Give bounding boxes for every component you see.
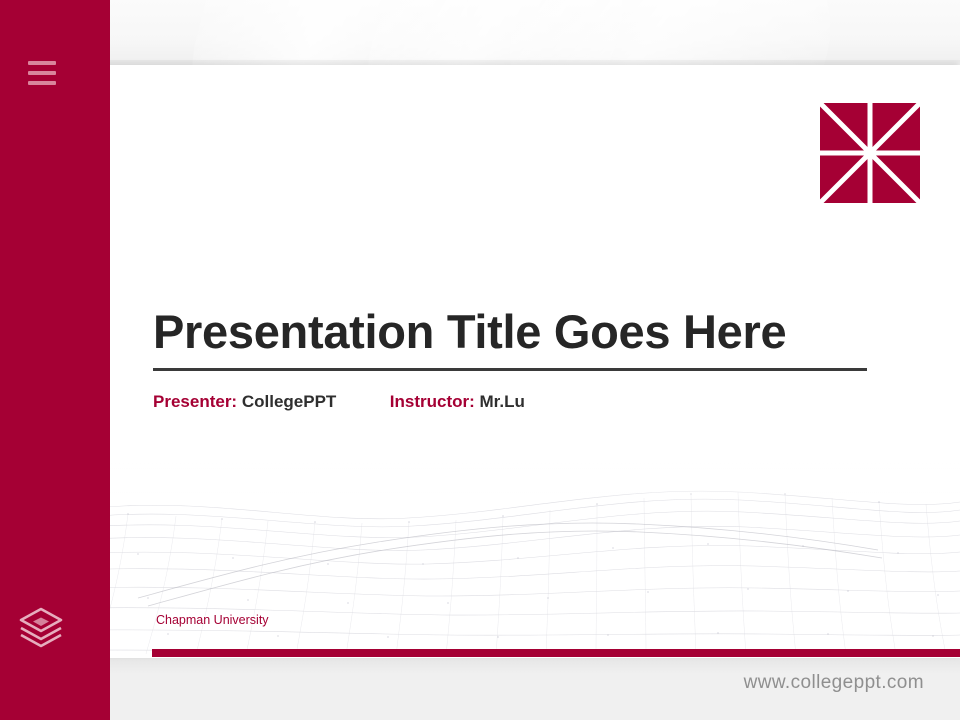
hamburger-bar-2 xyxy=(28,71,56,75)
top-decorative-band xyxy=(0,0,960,66)
presenter-label: Presenter: xyxy=(153,392,237,411)
presentation-slide: Presentation Title Goes Here Presenter: … xyxy=(78,65,960,658)
byline: Presenter: CollegePPT Instructor: Mr.Lu xyxy=(153,392,867,412)
hamburger-bar-3 xyxy=(28,81,56,85)
wireframe-mesh-graphic xyxy=(78,458,960,658)
hamburger-icon[interactable] xyxy=(28,61,56,85)
instructor-label: Instructor: xyxy=(390,392,475,411)
pinwheel-square-logo-icon xyxy=(818,101,922,205)
instructor-value: Mr.Lu xyxy=(480,392,525,411)
left-rail xyxy=(0,0,110,720)
title-block: Presentation Title Goes Here Presenter: … xyxy=(153,307,867,412)
organization-label: Chapman University xyxy=(156,613,269,627)
presenter-value: CollegePPT xyxy=(242,392,336,411)
hamburger-bar-1 xyxy=(28,61,56,65)
swoosh-shape-3 xyxy=(465,0,875,66)
page-title: Presentation Title Goes Here xyxy=(153,307,867,357)
slide-bottom-rule xyxy=(152,649,960,657)
slide-viewer: www.collegeppt.com xyxy=(0,0,960,720)
layers-icon[interactable] xyxy=(16,602,66,652)
site-url-label: www.collegeppt.com xyxy=(744,672,924,694)
title-underline xyxy=(153,368,867,371)
